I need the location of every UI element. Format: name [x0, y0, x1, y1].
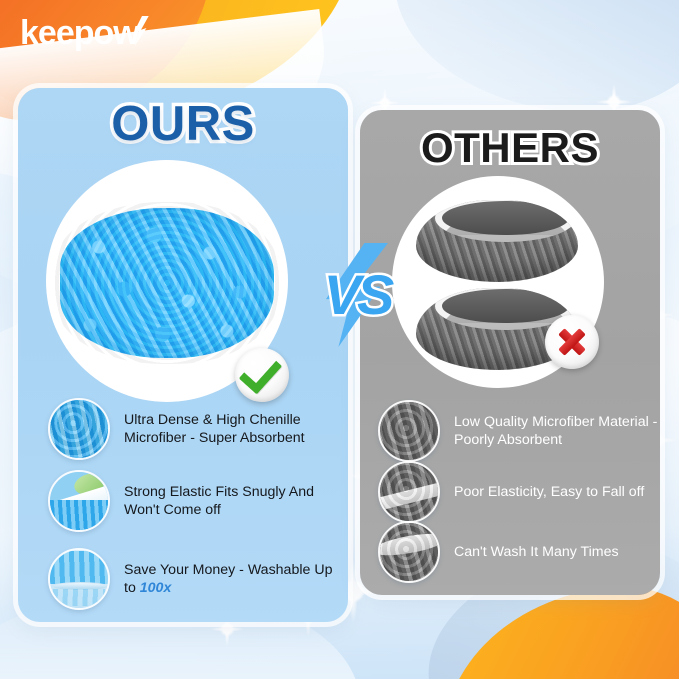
loose-elastic-thumb	[378, 461, 440, 523]
blue-chenille-pad-art	[60, 208, 274, 358]
versus-label: VS	[324, 267, 391, 323]
worn-pad-thumb	[378, 521, 440, 583]
ours-feature-label-1: Ultra Dense & High Chenille Microfiber -…	[124, 411, 346, 448]
cross-icon	[557, 327, 587, 357]
others-feature-row-3: Can't Wash It Many Times	[378, 521, 619, 583]
red-cross-badge	[545, 315, 599, 369]
ours-feature-row-1: Ultra Dense & High Chenille Microfiber -…	[48, 398, 346, 460]
washable-pad-thumb	[48, 548, 110, 610]
others-feature-label-3: Can't Wash It Many Times	[454, 543, 619, 561]
blue-chenille-closeup-thumb	[48, 398, 110, 460]
others-feature-row-1: Low Quality Microfiber Material - Poorly…	[378, 400, 660, 462]
ours-feature-label-2: Strong Elastic Fits Snugly And Won't Com…	[124, 483, 346, 520]
ours-feature-label-3: Save Your Money - Washable Up to 100x	[124, 561, 346, 598]
ours-feature-row-3: Save Your Money - Washable Up to 100x	[48, 548, 346, 610]
brand-logo-text: keepow	[20, 16, 139, 50]
others-feature-row-2: Poor Elasticity, Easy to Fall off	[378, 461, 644, 523]
others-feature-label-2: Poor Elasticity, Easy to Fall off	[454, 483, 644, 501]
versus-badge: VS	[305, 243, 409, 347]
others-feature-label-1: Low Quality Microfiber Material - Poorly…	[454, 413, 660, 450]
ours-feature-row-2: Strong Elastic Fits Snugly And Won't Com…	[48, 470, 346, 532]
elastic-band-thumb	[48, 470, 110, 532]
washable-count-highlight: 100x	[140, 580, 172, 596]
green-check-badge	[235, 348, 289, 402]
brand-logo: keepow	[20, 16, 149, 50]
gray-mop-pad-art-1	[416, 200, 578, 282]
check-icon	[239, 350, 282, 394]
gray-fabric-closeup-thumb	[378, 400, 440, 462]
others-heading: OTHERS	[360, 124, 660, 172]
ours-heading: OURS	[18, 96, 348, 152]
